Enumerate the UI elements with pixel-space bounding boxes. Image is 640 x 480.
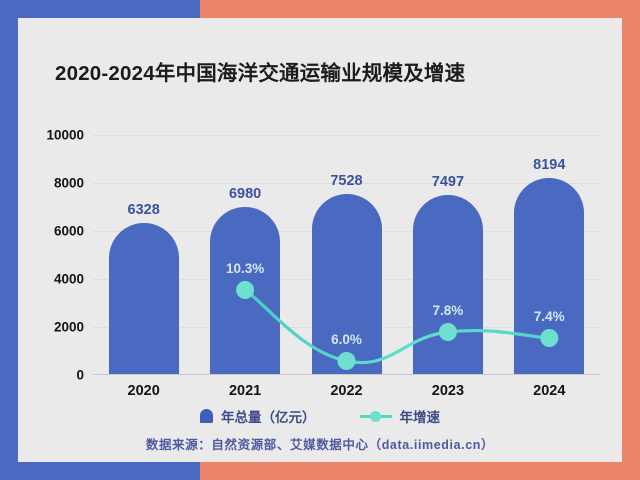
line-value-label: 10.3%	[226, 261, 264, 276]
bar-value-label: 8194	[533, 157, 565, 173]
bar-value-label: 6328	[128, 202, 160, 218]
x-axis-baseline	[93, 374, 600, 375]
poster-frame: 2020-2024年中国海洋交通运输业规模及增速 020004000600080…	[0, 0, 640, 480]
y-axis-tick-label: 2000	[54, 320, 84, 335]
bottom-orange-band	[200, 462, 640, 480]
y-axis-tick-label: 8000	[54, 176, 84, 191]
y-axis-tick-label: 10000	[46, 128, 84, 143]
gridline	[93, 135, 600, 136]
bar-2020[interactable]: 6328	[109, 223, 179, 375]
source-note: 数据来源：自然资源部、艾媒数据中心（data.iimedia.cn）	[18, 434, 622, 453]
bar-2023[interactable]: 7497	[413, 195, 483, 375]
x-axis-tick-label: 2021	[229, 383, 261, 399]
plot-area: 0200040006000800010000 63286980752874978…	[93, 135, 600, 375]
bar-value-label: 7497	[432, 174, 464, 190]
trend-line-markers	[236, 281, 558, 370]
y-axis-tick-label: 6000	[54, 224, 84, 239]
line-value-label: 7.8%	[433, 303, 464, 318]
bar-value-label: 7528	[330, 173, 362, 189]
chart-card: 2020-2024年中国海洋交通运输业规模及增速 020004000600080…	[18, 18, 622, 462]
x-axis-tick-label: 2020	[128, 383, 160, 399]
line-value-label: 6.0%	[331, 332, 362, 347]
bar-value-label: 6980	[229, 186, 261, 202]
legend-item-bar[interactable]: 年总量（亿元）	[200, 406, 316, 426]
x-axis-tick-label: 2023	[432, 383, 464, 399]
right-orange-band	[622, 0, 640, 480]
chart-legend: 年总量（亿元） 年增速	[18, 406, 622, 426]
legend-item-bar-label: 年总量（亿元）	[221, 406, 316, 426]
x-axis-tick-label: 2024	[533, 383, 565, 399]
y-axis-tick-label: 4000	[54, 272, 84, 287]
bar-2024[interactable]: 8194	[514, 178, 584, 375]
page-title: 2020-2024年中国海洋交通运输业规模及增速	[55, 56, 465, 86]
rounded-bar-swatch-icon	[200, 409, 213, 423]
x-axis-tick-label: 2022	[330, 383, 362, 399]
bar-2022[interactable]: 7528	[312, 194, 382, 375]
line-value-label: 7.4%	[534, 309, 565, 324]
line-dot-swatch-icon	[360, 410, 392, 422]
top-orange-band	[200, 0, 640, 18]
legend-item-line[interactable]: 年增速	[360, 406, 441, 426]
bottom-blue-band	[0, 462, 200, 480]
bar-2021[interactable]: 6980	[210, 207, 280, 375]
left-blue-band	[0, 0, 18, 480]
y-axis-tick-label: 0	[76, 368, 84, 383]
top-blue-band	[0, 0, 200, 18]
legend-item-line-label: 年增速	[400, 406, 441, 426]
